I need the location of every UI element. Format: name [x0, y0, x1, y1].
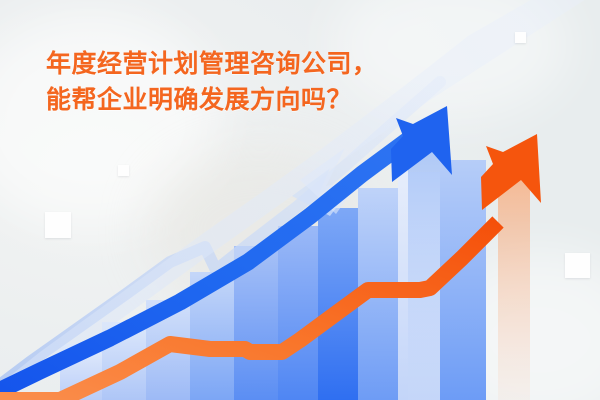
- headline-line-1: 年度经营计划管理咨询公司，: [46, 46, 466, 82]
- decor-square: [515, 32, 526, 43]
- headline-line-2: 能帮企业明确发展方向吗？: [46, 82, 466, 118]
- blue-arrow-shadow: [408, 128, 440, 400]
- headline: 年度经营计划管理咨询公司， 能帮企业明确发展方向吗？: [46, 46, 466, 118]
- decor-square: [565, 253, 590, 278]
- growth-banner: 年度经营计划管理咨询公司， 能帮企业明确发展方向吗？: [0, 0, 600, 400]
- decor-square: [45, 212, 71, 238]
- bar: [278, 226, 318, 400]
- decor-square: [118, 165, 129, 176]
